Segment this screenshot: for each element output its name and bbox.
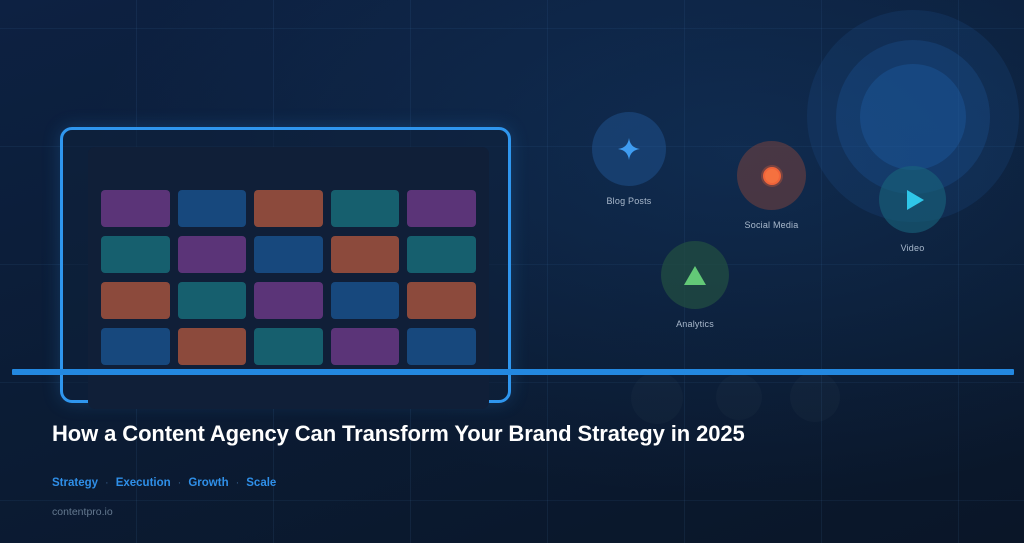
channel-bubble (879, 166, 946, 233)
content-tile (101, 236, 170, 273)
content-tile (331, 190, 400, 227)
content-tile (178, 190, 247, 227)
content-tile (331, 328, 400, 365)
accent-divider (12, 369, 1014, 375)
tagline-item[interactable]: Strategy (52, 477, 98, 489)
channel-node-social-media[interactable]: Social Media (737, 141, 806, 210)
content-tile-grid (101, 190, 476, 365)
channel-label: Blog Posts (606, 196, 651, 206)
channel-node-video[interactable]: Video (879, 166, 946, 233)
content-tile (407, 282, 476, 319)
channel-node-analytics[interactable]: Analytics (661, 241, 729, 309)
content-tile (101, 282, 170, 319)
content-tile (254, 236, 323, 273)
content-tile (407, 328, 476, 365)
content-tile (101, 328, 170, 365)
channel-label: Social Media (745, 220, 799, 230)
tagline-separator: · (178, 477, 182, 489)
tagline-separator: · (236, 477, 240, 489)
tagline-separator: · (105, 477, 109, 489)
tagline-item[interactable]: Growth (188, 477, 228, 489)
content-tile (101, 190, 170, 227)
content-tile (331, 236, 400, 273)
content-tile (407, 190, 476, 227)
channel-bubble (737, 141, 806, 210)
channel-label: Video (901, 243, 925, 253)
channel-bubble (592, 112, 666, 186)
content-tile (178, 282, 247, 319)
content-tile (407, 236, 476, 273)
channel-bubble (661, 241, 729, 309)
ring-dot-icon (763, 167, 781, 185)
content-tile (254, 282, 323, 319)
dashboard-mockup (60, 127, 511, 403)
content-tile (178, 236, 247, 273)
tagline-item[interactable]: Scale (246, 477, 276, 489)
play-icon (907, 190, 924, 210)
channel-label: Analytics (676, 319, 714, 329)
triangle-up-icon (684, 266, 706, 285)
tagline-item[interactable]: Execution (116, 477, 171, 489)
sparkle-icon (617, 137, 641, 161)
content-tile (254, 328, 323, 365)
page-title: How a Content Agency Can Transform Your … (52, 421, 745, 447)
channel-node-blog-posts[interactable]: Blog Posts (592, 112, 666, 186)
tagline-list: Strategy·Execution·Growth·Scale (52, 477, 276, 489)
content-tile (254, 190, 323, 227)
brand-footer: contentpro.io (52, 506, 113, 518)
hero-banner: Blog Posts Social Media Video Analytics … (0, 0, 1024, 543)
content-tile (178, 328, 247, 365)
content-tile (331, 282, 400, 319)
